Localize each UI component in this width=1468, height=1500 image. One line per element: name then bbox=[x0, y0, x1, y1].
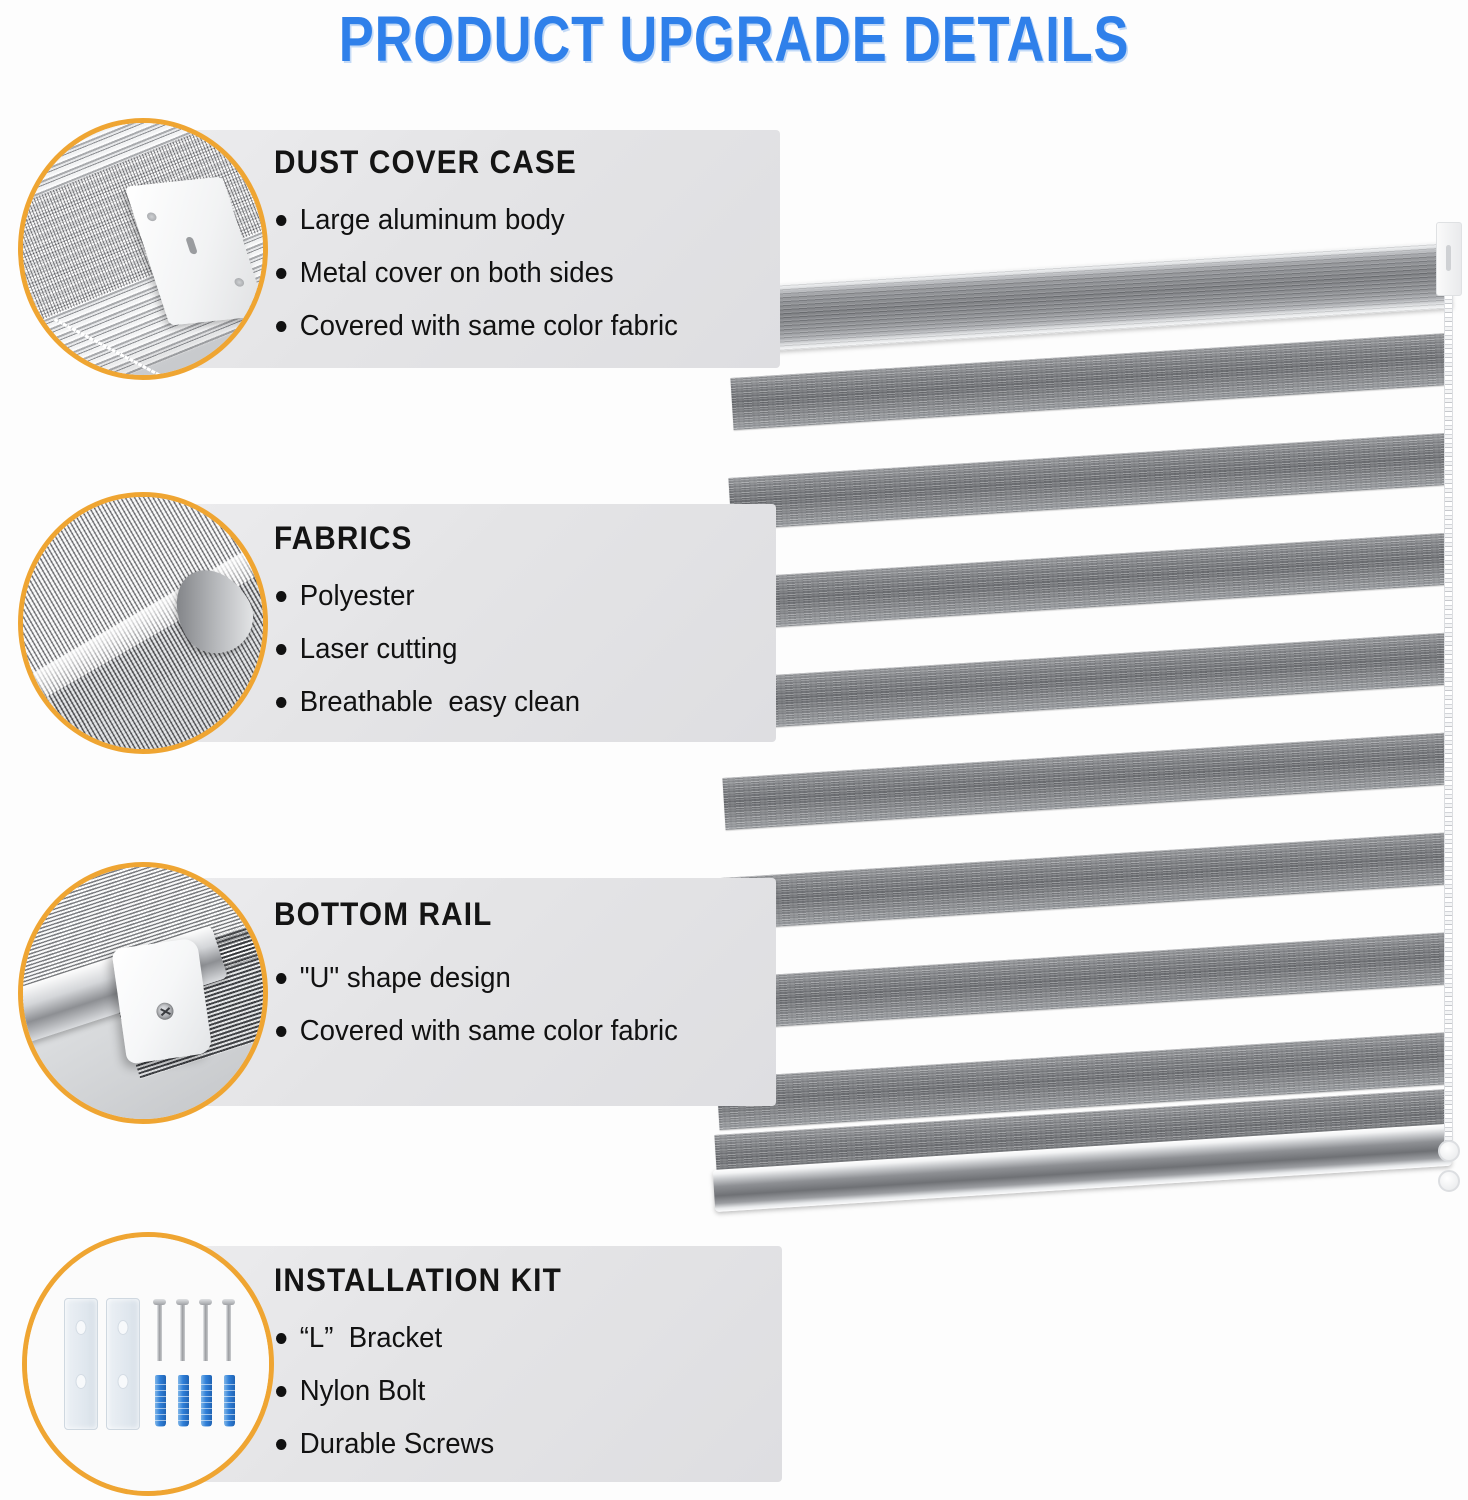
bullet-item: Covered with same color fabric bbox=[276, 310, 678, 343]
fabric-band bbox=[726, 533, 1450, 630]
bullet-item: "U" shape design bbox=[276, 962, 678, 995]
fabric-roll-photo bbox=[18, 492, 268, 754]
section-title: INSTALLATION KIT bbox=[274, 1262, 562, 1299]
bullet-text: Metal cover on both sides bbox=[300, 257, 614, 290]
section-installation-kit: INSTALLATION KIT “L” Bracket Nylon Bolt … bbox=[0, 1232, 800, 1500]
l-bracket-icon bbox=[64, 1298, 98, 1430]
fabric-band bbox=[720, 832, 1450, 930]
section-fabrics: FABRICS Polyester Laser cutting Breathab… bbox=[0, 492, 790, 752]
bullet-text: Nylon Bolt bbox=[300, 1375, 426, 1408]
mounting-bracket-icon bbox=[1436, 222, 1462, 296]
bullet-dot-icon bbox=[276, 1026, 286, 1037]
nylon-bolt-icon bbox=[155, 1375, 166, 1428]
nylon-bolt-icon bbox=[178, 1375, 189, 1428]
bullet-text: Large aluminum body bbox=[300, 204, 565, 237]
bead-chain-icon[interactable] bbox=[1444, 268, 1453, 1148]
bullet-item: “L” Bracket bbox=[276, 1322, 494, 1355]
bullet-text: Durable Screws bbox=[300, 1428, 494, 1461]
bullet-item: Laser cutting bbox=[276, 633, 580, 666]
dust-cover-case-photo bbox=[18, 118, 268, 380]
screw-icon bbox=[203, 1303, 208, 1361]
product-image bbox=[700, 210, 1468, 1300]
section-bullet-list: Polyester Laser cutting Breathable easy … bbox=[276, 580, 596, 739]
section-title: FABRICS bbox=[274, 520, 412, 557]
bullet-item: Durable Screws bbox=[276, 1428, 494, 1461]
section-bullet-list: "U" shape design Covered with same color… bbox=[276, 962, 699, 1068]
section-bullet-list: Large aluminum body Metal cover on both … bbox=[276, 204, 699, 363]
installation-kit-photo bbox=[22, 1232, 274, 1496]
page-header: PRODUCT UPGRADE DETAILS bbox=[0, 0, 1468, 78]
bullet-item: Large aluminum body bbox=[276, 204, 678, 237]
section-dust-cover-case: DUST COVER CASE Large aluminum body Meta… bbox=[0, 118, 800, 378]
section-bottom-rail: BOTTOM RAIL "U" shape design Covered wit… bbox=[0, 862, 790, 1112]
section-title: BOTTOM RAIL bbox=[274, 896, 492, 933]
nylon-bolt-icon bbox=[201, 1375, 212, 1428]
bullet-item: Polyester bbox=[276, 580, 580, 613]
bullet-text: Polyester bbox=[300, 580, 415, 613]
bullet-item: Nylon Bolt bbox=[276, 1375, 494, 1408]
bullet-text: Covered with same color fabric bbox=[300, 1015, 678, 1048]
bullet-dot-icon bbox=[276, 1333, 286, 1344]
fabric-band bbox=[722, 732, 1450, 829]
screw-icon bbox=[157, 1303, 162, 1361]
bullet-item: Breathable easy clean bbox=[276, 686, 580, 719]
bullet-text: Breathable easy clean bbox=[300, 686, 580, 719]
bullet-dot-icon bbox=[276, 1439, 286, 1450]
screw-icon bbox=[226, 1303, 231, 1361]
bullet-text: Laser cutting bbox=[300, 633, 458, 666]
bullet-dot-icon bbox=[276, 268, 286, 279]
bottom-rail-photo bbox=[18, 862, 268, 1124]
fabric-band bbox=[718, 932, 1450, 1030]
bullet-dot-icon bbox=[276, 215, 286, 226]
bullet-dot-icon bbox=[276, 697, 286, 708]
bullet-item: Covered with same color fabric bbox=[276, 1015, 678, 1048]
chain-connector-icon[interactable] bbox=[1438, 1140, 1460, 1162]
fabric-band bbox=[730, 333, 1450, 430]
fabric-band bbox=[728, 433, 1450, 530]
zebra-roller-blind bbox=[700, 210, 1468, 1300]
bullet-item: Metal cover on both sides bbox=[276, 257, 678, 290]
page-title: PRODUCT UPGRADE DETAILS bbox=[339, 2, 1130, 76]
nylon-bolt-icon bbox=[224, 1375, 235, 1428]
l-bracket-icon bbox=[106, 1298, 140, 1430]
bullet-text: "U" shape design bbox=[300, 962, 511, 995]
section-title: DUST COVER CASE bbox=[274, 144, 577, 181]
bullet-dot-icon bbox=[276, 321, 286, 332]
dust-cover-headrail-icon bbox=[722, 242, 1453, 354]
bullet-dot-icon bbox=[276, 591, 286, 602]
screw-icon bbox=[180, 1303, 185, 1361]
bullet-text: “L” Bracket bbox=[300, 1322, 442, 1355]
bullet-dot-icon bbox=[276, 1386, 286, 1397]
section-bullet-list: “L” Bracket Nylon Bolt Durable Screws bbox=[276, 1322, 506, 1481]
bullet-dot-icon bbox=[276, 644, 286, 655]
fabric-band bbox=[724, 633, 1450, 730]
bullet-dot-icon bbox=[276, 973, 286, 984]
chain-connector-icon[interactable] bbox=[1438, 1170, 1460, 1192]
bullet-text: Covered with same color fabric bbox=[300, 310, 678, 343]
